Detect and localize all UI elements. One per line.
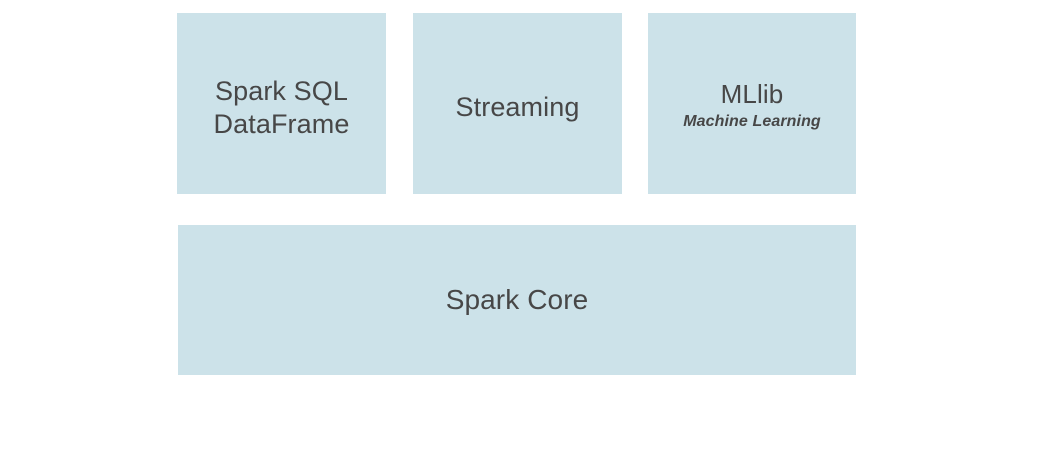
block-streaming-label: Streaming	[456, 91, 580, 124]
block-mllib-subtitle: Machine Learning	[683, 112, 821, 132]
block-mllib-label: MLlib	[721, 79, 784, 111]
block-spark-core-label: Spark Core	[446, 283, 589, 317]
block-mllib[interactable]: MLlib Machine Learning	[648, 13, 856, 194]
spark-stack-diagram: Spark SQL DataFrame Streaming MLlib Mach…	[0, 0, 1053, 457]
block-streaming[interactable]: Streaming	[413, 13, 622, 194]
block-spark-core[interactable]: Spark Core	[178, 225, 856, 375]
block-spark-sql[interactable]: Spark SQL DataFrame	[177, 13, 386, 194]
block-spark-sql-label: Spark SQL DataFrame	[214, 75, 350, 141]
